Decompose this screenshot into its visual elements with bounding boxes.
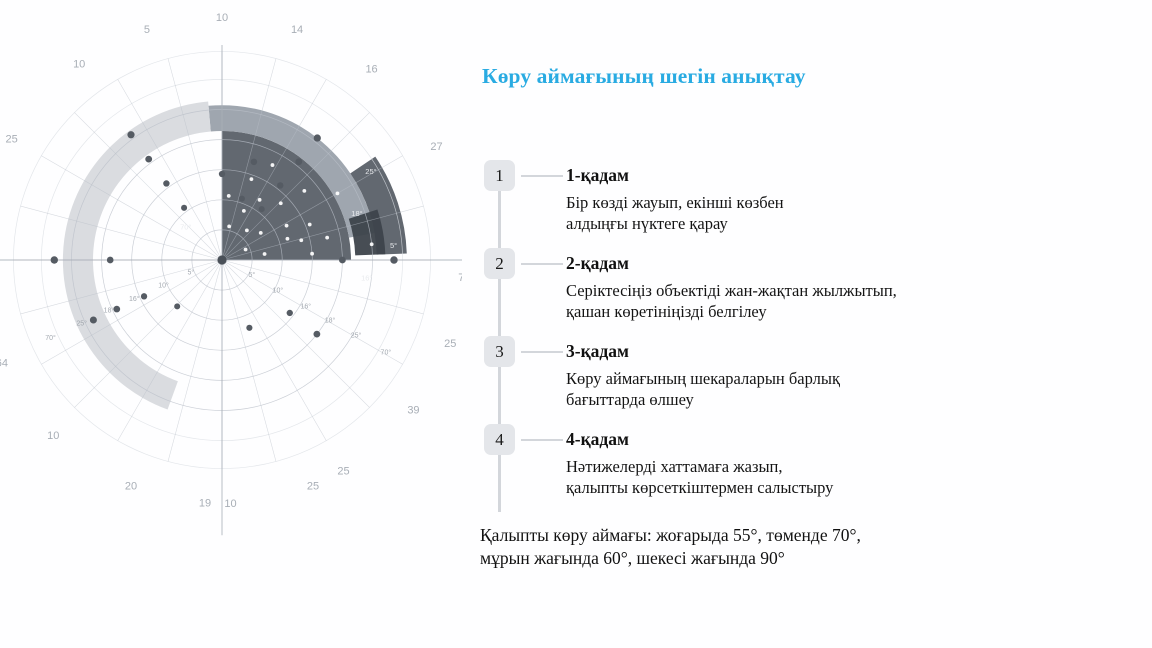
chart-data-point bbox=[239, 196, 245, 202]
step-body: 1-қадамБір көзді жауып, екінші көзбен ал… bbox=[566, 160, 1152, 234]
chart-outer-label: 20 bbox=[125, 480, 137, 492]
step-item-3[interactable]: 33-қадамКөру аймағының шекараларын барлы… bbox=[478, 336, 1152, 424]
chart-test-point bbox=[258, 198, 262, 202]
slide-root: 5°10°16°18°25°70°5°10°16°18°25°70°70°16°… bbox=[0, 0, 1152, 648]
chart-test-point bbox=[259, 231, 263, 235]
chart-test-point bbox=[370, 242, 374, 246]
step-marker-col: 3 bbox=[484, 336, 524, 367]
step-title: 3-қадам bbox=[566, 336, 1142, 366]
chart-data-point bbox=[163, 180, 169, 186]
step-number-badge[interactable]: 3 bbox=[484, 336, 515, 367]
chart-sector-label: 5° bbox=[390, 241, 397, 250]
chart-inner-ring-label: 5° bbox=[187, 269, 194, 277]
chart-outer-label: 10 bbox=[73, 58, 85, 70]
chart-grid-spoke bbox=[21, 260, 222, 314]
normal-values-note: Қалыпты көру аймағы: жоғарыда 55°, төмен… bbox=[480, 524, 1120, 570]
timeline-connector-stub bbox=[521, 175, 563, 177]
chart-outer-label: 25 bbox=[5, 134, 17, 146]
chart-test-point bbox=[245, 228, 249, 232]
chart-inner-ring-label: 5° bbox=[248, 271, 255, 279]
steps-timeline: 11-қадамБір көзді жауып, екінші көзбен а… bbox=[478, 160, 1152, 512]
step-body: 4-қадамНәтижелерді хаттамаға жазып, қалы… bbox=[566, 424, 1152, 498]
chart-test-point bbox=[285, 224, 289, 228]
chart-test-point bbox=[299, 238, 303, 242]
step-item-4[interactable]: 44-қадамНәтижелерді хаттамаға жазып, қал… bbox=[478, 424, 1152, 512]
chart-inner-ring-label: 25° bbox=[351, 331, 362, 339]
chart-test-point bbox=[263, 252, 267, 256]
chart-test-point bbox=[242, 209, 246, 213]
chart-grid-spoke bbox=[168, 260, 222, 461]
chart-outer-label: 16 bbox=[365, 64, 377, 76]
timeline-connector-stub bbox=[521, 351, 563, 353]
chart-inner-ring-label: 18° bbox=[104, 307, 115, 315]
step-description: Көру аймағының шекараларын барлық бағытт… bbox=[566, 368, 1142, 410]
chart-grid-spoke bbox=[118, 260, 222, 441]
chart-outer-label: 27 bbox=[430, 141, 442, 153]
chart-outer-label: 39 bbox=[407, 405, 419, 417]
chart-data-point bbox=[251, 159, 258, 166]
chart-data-point bbox=[219, 171, 225, 177]
chart-data-point bbox=[295, 158, 302, 165]
chart-outer-label: 64 bbox=[0, 358, 8, 370]
chart-outer-label: 10 bbox=[224, 498, 236, 510]
chart-inner-ring-label: 70° bbox=[45, 334, 56, 342]
chart-test-point bbox=[227, 224, 231, 228]
chart-test-point bbox=[244, 248, 248, 252]
chart-grid-spoke bbox=[222, 260, 369, 407]
chart-test-point bbox=[271, 163, 275, 167]
page-title: Көру аймағының шегін анықтау bbox=[482, 64, 806, 89]
chart-data-point bbox=[127, 131, 134, 138]
chart-sector-label: 70° bbox=[180, 223, 191, 232]
chart-inner-ring-label: 18° bbox=[325, 316, 336, 324]
chart-data-point bbox=[313, 331, 320, 338]
chart-data-point bbox=[181, 205, 187, 211]
step-marker-col: 4 bbox=[484, 424, 524, 455]
chart-inner-ring-label: 16° bbox=[129, 295, 140, 303]
chart-data-point bbox=[339, 257, 346, 264]
chart-group: 5°10°16°18°25°70°5°10°16°18°25°70°70°16°… bbox=[0, 12, 462, 535]
chart-sector-label: 16° bbox=[361, 273, 372, 282]
step-number-badge[interactable]: 2 bbox=[484, 248, 515, 279]
chart-data-point bbox=[277, 182, 283, 188]
step-number-badge[interactable]: 1 bbox=[484, 160, 515, 191]
chart-test-point bbox=[227, 194, 231, 198]
timeline-connector-stub bbox=[521, 439, 563, 441]
step-item-1[interactable]: 11-қадамБір көзді жауып, екінші көзбен а… bbox=[478, 160, 1152, 248]
chart-outer-label: 10 bbox=[216, 12, 228, 24]
visual-field-chart: 5°10°16°18°25°70°5°10°16°18°25°70°70°16°… bbox=[0, 0, 462, 610]
chart-sector-label: 25° bbox=[365, 167, 376, 176]
step-title: 4-қадам bbox=[566, 424, 1142, 454]
chart-data-point bbox=[287, 310, 293, 316]
timeline-connector-line bbox=[498, 450, 501, 512]
chart-grid-spoke bbox=[21, 206, 222, 260]
step-item-2[interactable]: 22-қадамСеріктесіңіз объектіді жан-жақта… bbox=[478, 248, 1152, 336]
chart-data-point bbox=[113, 306, 120, 313]
chart-test-point bbox=[336, 191, 340, 195]
perimetry-plot-svg: 5°10°16°18°25°70°5°10°16°18°25°70°70°16°… bbox=[0, 0, 462, 610]
chart-data-point bbox=[390, 256, 397, 263]
step-description: Бір көзді жауып, екінші көзбен алдыңғы н… bbox=[566, 192, 1142, 234]
step-body: 3-қадамКөру аймағының шекараларын барлық… bbox=[566, 336, 1152, 410]
chart-grid-spoke bbox=[168, 59, 222, 260]
chart-inner-ring-label: 10° bbox=[273, 286, 284, 294]
chart-outer-label: 5 bbox=[144, 24, 150, 36]
chart-outer-label: 25 bbox=[307, 480, 319, 492]
chart-data-point bbox=[51, 256, 58, 263]
step-title: 1-қадам bbox=[566, 160, 1142, 190]
chart-test-point bbox=[286, 237, 290, 241]
chart-inner-ring-label: 70° bbox=[381, 349, 392, 357]
step-description: Серіктесіңіз объектіді жан-жақтан жылжыт… bbox=[566, 280, 1142, 322]
step-marker-col: 1 bbox=[484, 160, 524, 191]
chart-data-point bbox=[246, 325, 252, 331]
chart-inner-ring-label: 10° bbox=[158, 281, 169, 289]
chart-test-point bbox=[310, 252, 314, 256]
chart-data-point bbox=[259, 206, 265, 212]
chart-outer-label: 25 bbox=[337, 465, 349, 477]
chart-outer-label: 10 bbox=[47, 430, 59, 442]
chart-grid-spoke bbox=[222, 260, 276, 461]
chart-test-point bbox=[279, 201, 283, 205]
chart-outer-label: 19 bbox=[199, 497, 211, 509]
chart-inner-ring-label: 16° bbox=[300, 302, 311, 310]
chart-fixation-point bbox=[217, 255, 226, 264]
chart-data-point bbox=[90, 316, 97, 323]
step-title: 2-қадам bbox=[566, 248, 1142, 278]
step-description: Нәтижелерді хаттамаға жазып, қалыпты көр… bbox=[566, 456, 1142, 498]
chart-sector-left-light-band bbox=[63, 102, 211, 410]
chart-data-point bbox=[145, 156, 152, 163]
chart-test-point bbox=[250, 177, 254, 181]
step-marker-col: 2 bbox=[484, 248, 524, 279]
chart-data-point bbox=[314, 134, 321, 141]
chart-outer-label: 25 bbox=[444, 338, 456, 350]
chart-grid-spoke bbox=[222, 260, 423, 314]
chart-outer-label: 70 bbox=[458, 272, 462, 284]
chart-test-point bbox=[308, 223, 312, 227]
timeline-connector-stub bbox=[521, 263, 563, 265]
chart-test-point bbox=[302, 189, 306, 193]
chart-data-point bbox=[141, 293, 147, 299]
chart-outer-label: 14 bbox=[291, 24, 303, 36]
step-number-badge[interactable]: 4 bbox=[484, 424, 515, 455]
chart-inner-ring-label: 25° bbox=[76, 319, 87, 327]
chart-test-point bbox=[325, 236, 329, 240]
step-body: 2-қадамСеріктесіңіз объектіді жан-жақтан… bbox=[566, 248, 1152, 322]
chart-data-point bbox=[174, 303, 180, 309]
content-panel: Көру аймағының шегін анықтау 11-қадамБір… bbox=[478, 0, 1152, 648]
chart-sector-label: 18° bbox=[351, 209, 362, 218]
chart-data-point bbox=[107, 257, 114, 264]
